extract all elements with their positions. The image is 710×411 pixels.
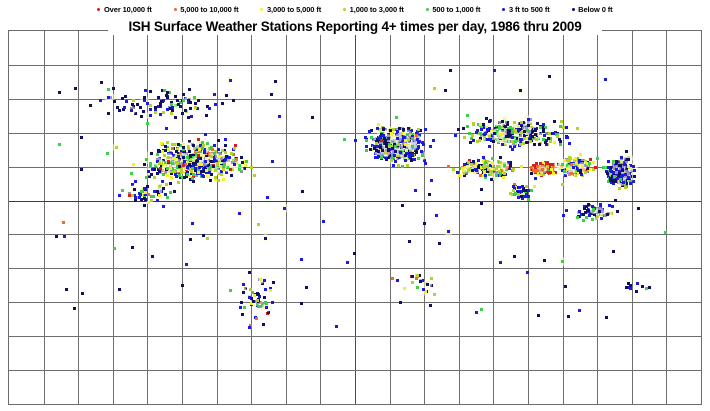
station-point [470,163,473,166]
station-point [584,171,587,174]
station-point [561,260,564,263]
station-point [396,279,399,282]
station-point [592,161,595,164]
station-point [552,132,555,135]
station-point [414,189,417,192]
station-point [138,196,141,199]
station-point [143,204,146,207]
station-point [162,205,165,208]
station-point [58,143,61,146]
legend-item-over_10000: Over 10,000 ft [86,5,162,14]
station-point [241,313,244,316]
station-point [183,176,186,179]
station-point [62,221,65,224]
station-point [420,150,423,153]
chart-title: ISH Surface Weather Stations Reporting 4… [0,18,710,36]
map-figure: Over 10,000 ft5,000 to 10,000 ft3,000 to… [0,0,710,411]
station-point [248,326,251,329]
station-point [250,166,253,169]
station-point [627,176,630,179]
station-point [388,145,391,148]
legend-item-label: 1,000 to 3,000 ft [350,5,404,14]
station-point [73,307,76,310]
station-point [353,252,356,255]
station-point [622,181,625,184]
station-point [549,171,552,174]
station-point [519,138,522,141]
station-point [432,139,435,142]
station-point [419,280,422,283]
station-point [526,129,529,132]
station-point [199,157,202,160]
station-point [156,190,159,193]
station-point [411,281,414,284]
station-point [576,127,579,130]
station-point [186,166,189,169]
station-point [166,91,169,94]
station-point [257,305,260,308]
station-point [488,145,491,148]
station-point [562,214,565,217]
station-point [393,154,396,157]
station-point [381,149,384,152]
station-point [526,271,529,274]
station-point [229,79,232,82]
legend-item-label: 5,000 to 10,000 ft [180,5,238,14]
station-point [208,107,211,110]
station-point [525,141,528,144]
station-point [570,163,573,166]
station-point [514,140,517,143]
station-point [390,132,393,135]
station-point [274,80,277,83]
station-point [423,222,426,225]
station-point [156,153,159,156]
station-point [252,300,255,303]
station-point [132,99,135,102]
station-point [145,158,148,161]
station-point [480,128,483,131]
station-point [278,115,281,118]
station-point [166,141,169,144]
station-point [586,209,589,212]
station-point [430,179,433,182]
station-point [625,286,628,289]
legend-swatch-icon [260,8,263,11]
station-point [166,196,169,199]
station-point [592,208,595,211]
station-point [154,111,157,114]
station-point [124,95,127,98]
station-point [523,130,526,133]
station-point [509,164,512,167]
station-point [143,99,146,102]
station-point [401,204,404,207]
station-point [399,301,402,304]
station-point [534,133,537,136]
station-point [248,296,251,299]
station-point [574,157,577,160]
station-point [150,152,153,155]
station-point [559,125,562,128]
station-point [121,189,124,192]
station-point [480,188,483,191]
station-point [144,198,147,201]
station-point [214,169,217,172]
station-point [380,156,383,159]
station-point [614,199,617,202]
station-point [612,250,615,253]
station-point [179,105,182,108]
station-point [501,120,504,123]
station-point [511,136,514,139]
station-point [479,132,482,135]
station-point [519,89,522,92]
station-point [121,97,124,100]
station-point [157,96,160,99]
legend-item-below_0: Below 0 ft [561,5,624,14]
station-point [311,116,314,119]
station-point [438,242,441,245]
station-point [210,160,213,163]
station-point [538,143,541,146]
station-point [191,167,194,170]
station-point [202,170,205,173]
station-point [435,214,438,217]
station-point [533,185,536,188]
station-point [112,87,115,90]
station-point [159,104,162,107]
station-point [162,111,165,114]
station-point [561,183,564,186]
station-point [189,107,192,110]
station-point [511,128,514,131]
station-point [513,121,516,124]
station-point [476,129,479,132]
station-point [570,172,573,175]
legend-item-label: Below 0 ft [578,5,612,14]
legend-item-label: 3 ft to 500 ft [509,5,550,14]
station-point [145,176,148,179]
station-point [417,157,420,160]
station-point [365,149,368,152]
station-point [220,173,223,176]
station-point [107,88,110,91]
station-point [556,135,559,138]
station-point [204,160,207,163]
station-point [167,156,170,159]
station-point [218,155,221,158]
station-point [402,128,405,131]
station-point [531,130,534,133]
station-point [113,100,116,103]
station-point [153,176,156,179]
station-point [384,139,387,142]
station-point [343,138,346,141]
station-point [594,166,597,169]
station-point [213,144,216,147]
station-point [221,102,224,105]
station-point [565,126,568,129]
station-point [373,147,376,150]
station-point [411,153,414,156]
station-point [253,174,256,177]
station-point [576,216,579,219]
station-point [193,96,196,99]
station-point [354,139,357,142]
legend: Over 10,000 ft5,000 to 10,000 ft3,000 to… [0,0,710,18]
station-point [416,286,419,289]
station-point [477,159,480,162]
station-point [154,106,157,109]
station-point [616,210,619,213]
station-point [403,145,406,148]
station-point [118,288,121,291]
station-point [159,113,162,116]
station-point [499,261,502,264]
station-point [627,165,630,168]
station-point [182,146,185,149]
station-point [161,150,164,153]
station-point [444,89,447,92]
station-point [118,194,121,197]
station-point [520,121,523,124]
station-point [426,283,429,286]
station-point [160,142,163,145]
station-point [627,158,630,161]
station-point [187,147,190,150]
station-point [406,152,409,155]
station-point [527,198,530,201]
station-point [578,210,581,213]
station-point [397,164,400,167]
station-point [447,230,450,233]
station-point [368,130,371,133]
station-point [632,165,635,168]
station-point [185,263,188,266]
station-point [483,171,486,174]
station-point [123,106,126,109]
station-point [169,182,172,185]
station-point [612,179,615,182]
station-point [224,138,227,141]
station-point [476,140,479,143]
station-point [581,165,584,168]
station-point [404,154,407,157]
legend-item-label: Over 10,000 ft [104,5,152,14]
station-point [214,176,217,179]
station-point [513,255,516,258]
station-point [396,137,399,140]
station-point [202,175,205,178]
station-point [544,141,547,144]
station-point [479,123,482,126]
station-point [417,146,420,149]
station-point [486,128,489,131]
station-point [80,168,83,171]
station-point [472,139,475,142]
station-point [422,143,425,146]
station-point [107,112,110,115]
station-point [197,99,200,102]
station-point [499,161,502,164]
station-point [130,109,133,112]
station-point [232,99,235,102]
station-point [169,167,172,170]
station-point [191,177,194,180]
station-point [271,160,274,163]
station-point [511,131,514,134]
station-point [166,174,169,177]
station-point [548,75,551,78]
station-point [621,169,624,172]
station-point [370,136,373,139]
station-point [429,304,432,307]
station-point [567,315,570,318]
station-point [609,177,612,180]
station-point [89,104,92,107]
station-point [568,142,571,145]
station-point [164,145,167,148]
station-point [424,128,427,131]
station-point [578,309,581,312]
station-point [392,164,395,167]
station-point [194,102,197,105]
station-point [501,143,504,146]
station-point [618,164,621,167]
station-point [143,163,146,166]
station-point [198,148,201,151]
station-point [242,291,245,294]
station-point [100,81,103,84]
station-point [535,138,538,141]
station-point [418,140,421,143]
station-point [163,154,166,157]
station-point [140,115,143,118]
station-point [454,134,457,137]
station-point [645,287,648,290]
station-point [417,128,420,131]
station-point [240,156,243,159]
station-point [300,258,303,261]
station-point [489,138,492,141]
station-point [533,143,536,146]
station-point [217,148,220,151]
legend-swatch-icon [502,8,505,11]
station-point [468,132,471,135]
legend-item-label: 500 to 1,000 ft [432,5,480,14]
station-point [469,141,472,144]
station-point [401,165,404,168]
station-point [150,173,153,176]
station-point [163,89,166,92]
station-point [479,174,482,177]
station-point [598,210,601,213]
station-point [534,170,537,173]
station-point [430,277,433,280]
station-point [153,190,156,193]
station-point [149,114,152,117]
station-point [490,178,493,181]
station-point [396,130,399,133]
station-point [230,174,233,177]
station-point [189,101,192,104]
station-point [174,95,177,98]
station-point [182,156,185,159]
station-point [636,282,639,285]
station-point [170,103,173,106]
station-point [648,286,651,289]
station-point [512,185,515,188]
station-point [74,87,77,90]
station-point [229,289,232,292]
station-point [542,138,545,141]
station-point [546,165,549,168]
station-point [484,161,487,164]
station-point [209,179,212,182]
station-point [404,143,407,146]
station-point [216,163,219,166]
station-point [561,163,564,166]
station-point [192,180,195,183]
station-point [503,172,506,175]
station-point [395,116,398,119]
station-point [488,120,491,123]
station-point [587,203,590,206]
station-point [493,69,496,72]
station-point [377,155,380,158]
station-point [613,175,616,178]
station-point [346,261,349,264]
station-point [611,205,614,208]
station-point [588,162,591,165]
station-point [166,167,169,170]
station-point [499,172,502,175]
station-point [221,149,224,152]
station-point [142,110,145,113]
station-point [202,144,205,147]
station-point [511,148,514,151]
station-point [194,167,197,170]
station-point [204,133,207,136]
station-point [178,165,181,168]
legend-swatch-icon [343,8,346,11]
station-point [503,164,506,167]
station-point [181,284,184,287]
station-point [255,317,258,320]
station-point [158,162,161,165]
station-point [406,133,409,136]
station-point [156,199,159,202]
station-point [248,271,251,274]
station-point [214,103,217,106]
station-point [251,291,254,294]
station-point [322,220,325,223]
station-point [452,168,455,171]
station-point [534,129,537,132]
station-point [188,88,191,91]
station-point [512,168,515,171]
station-point [523,195,526,198]
station-point [541,168,544,171]
station-point [99,99,102,102]
station-point [376,145,379,148]
station-point [146,102,149,105]
station-point [212,165,215,168]
station-point [233,163,236,166]
station-point [186,173,189,176]
station-point [139,106,142,109]
